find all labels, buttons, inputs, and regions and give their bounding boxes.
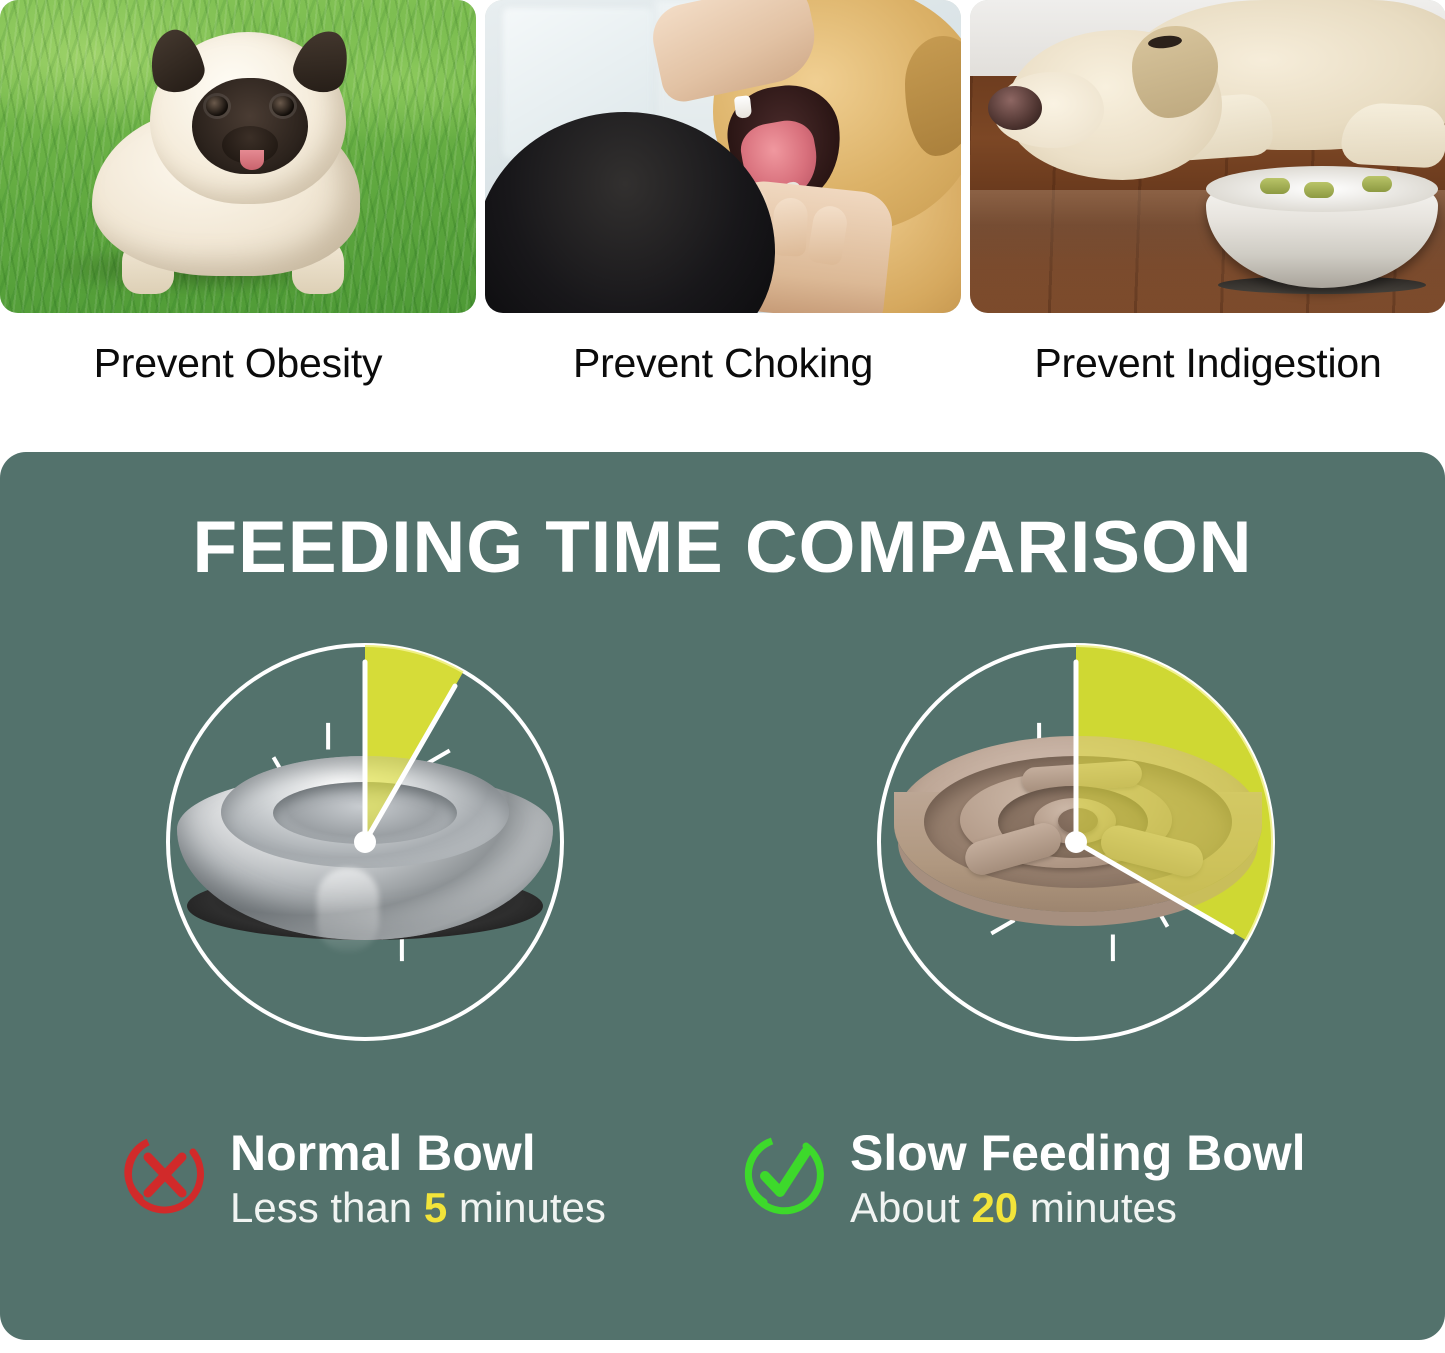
photo-dog-mouth-held-open: [485, 0, 961, 313]
benefit-caption-prevent-choking: Prevent Choking: [485, 340, 961, 387]
panel-title: FEEDING TIME COMPARISON: [0, 506, 1445, 589]
clock-normal-bowl: [155, 632, 575, 1052]
photo-labrador-with-bowl: [970, 0, 1445, 313]
result-title-slow-feeding-bowl: Slow Feeding Bowl: [850, 1124, 1306, 1182]
clock-slow-feeding-bowl: [866, 632, 1286, 1052]
result-subtitle-slow-feeding-bowl: About 20 minutes: [850, 1182, 1306, 1234]
result-sub-value-normal: 5: [424, 1184, 447, 1231]
red-cross-icon: [122, 1132, 208, 1218]
clock-center-hub-slow: [1065, 831, 1087, 853]
benefits-strip: Prevent Obesity Prevent Choking: [0, 0, 1445, 440]
photo-overweight-pug: [0, 0, 476, 313]
result-sub-value-slow: 20: [971, 1184, 1018, 1231]
result-sub-prefix-slow: About: [850, 1184, 960, 1231]
feeding-time-comparison-panel: FEEDING TIME COMPARISON: [0, 452, 1445, 1340]
green-check-icon: [742, 1132, 828, 1218]
benefit-card-prevent-indigestion[interactable]: Prevent Indigestion: [970, 0, 1445, 313]
benefit-card-prevent-choking[interactable]: Prevent Choking: [485, 0, 961, 313]
benefit-caption-prevent-indigestion: Prevent Indigestion: [970, 340, 1445, 387]
result-sub-suffix-slow: minutes: [1030, 1184, 1177, 1231]
result-sub-prefix-normal: Less than: [230, 1184, 412, 1231]
clock-center-hub-normal: [354, 831, 376, 853]
benefit-card-prevent-obesity[interactable]: Prevent Obesity: [0, 0, 476, 313]
benefit-caption-prevent-obesity: Prevent Obesity: [0, 340, 476, 387]
result-subtitle-normal-bowl: Less than 5 minutes: [230, 1182, 606, 1234]
result-sub-suffix-normal: minutes: [459, 1184, 606, 1231]
result-title-normal-bowl: Normal Bowl: [230, 1124, 606, 1182]
